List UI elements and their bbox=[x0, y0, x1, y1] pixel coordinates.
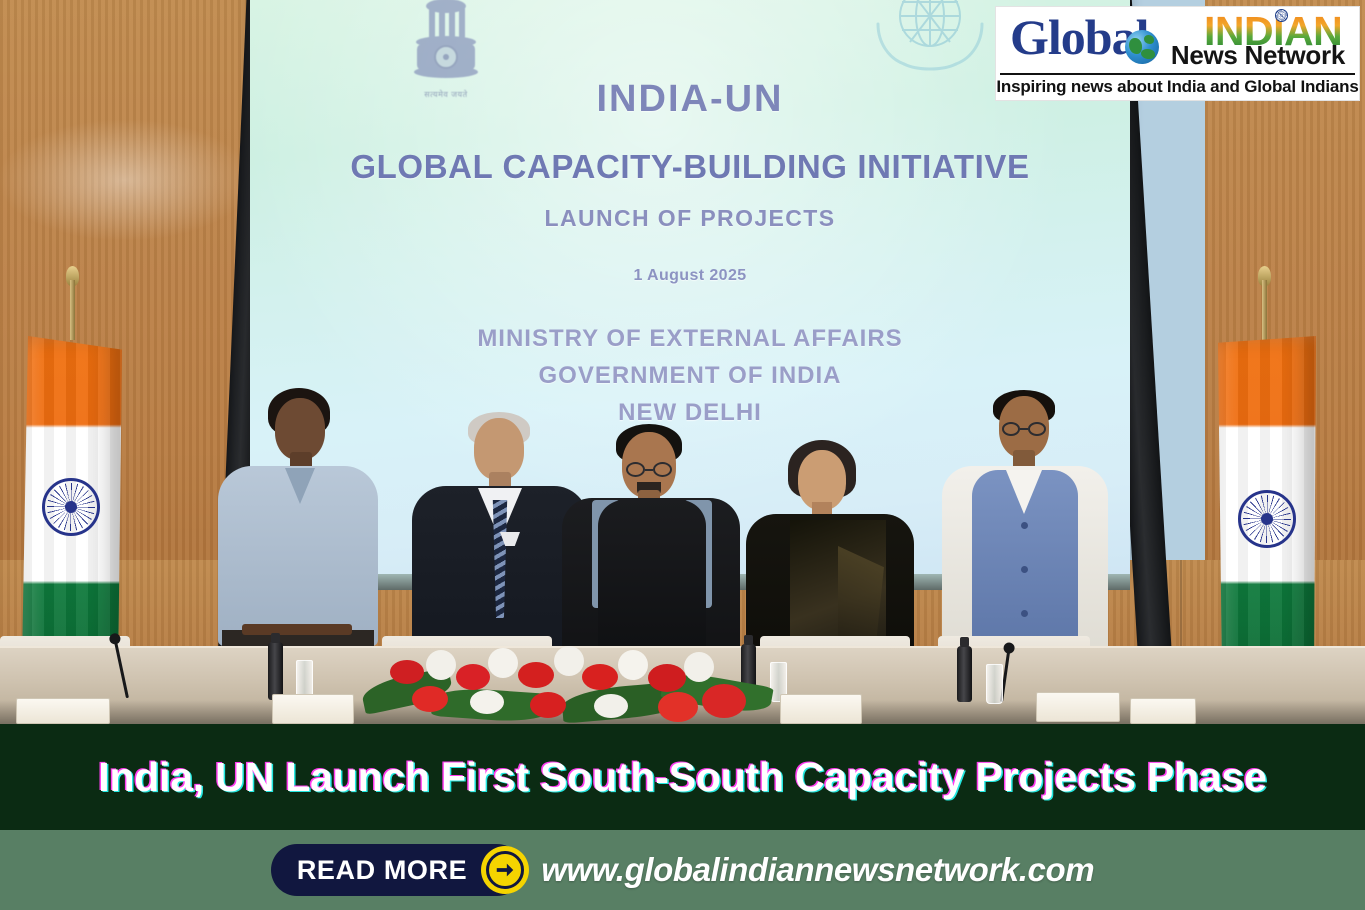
website-url[interactable]: www.globalindiannewsnetwork.com bbox=[541, 851, 1094, 889]
brand-divider bbox=[1000, 73, 1355, 75]
brand-word-news-network: News Network bbox=[1171, 40, 1345, 70]
footer-bar: READ MORE www.globalindiannewsnetwork.co… bbox=[0, 830, 1365, 910]
united-nations-emblem-icon bbox=[860, 0, 1000, 78]
water-glass bbox=[986, 664, 1003, 704]
ashoka-chakra-icon bbox=[42, 478, 100, 536]
arrow-right-circle-icon[interactable] bbox=[481, 846, 529, 894]
brand-logo-top: Global INDIAN News Network bbox=[1004, 10, 1351, 72]
slide-government: GOVERNMENT OF INDIA bbox=[250, 362, 1130, 390]
slide-date: 1 August 2025 bbox=[250, 267, 1130, 285]
slide-title-line2: GLOBAL CAPACITY-BUILDING INITIATIVE bbox=[250, 148, 1130, 186]
brand-logo[interactable]: Global INDIAN News Network Inspiring new… bbox=[995, 6, 1360, 101]
slide-title-line3: LAUNCH OF PROJECTS bbox=[250, 205, 1130, 232]
wall-sheen bbox=[0, 120, 250, 240]
name-placard bbox=[1036, 692, 1120, 722]
water-bottle bbox=[268, 642, 283, 700]
event-photograph: सत्यमेव जयते INDIA-UN GLOBAL bbox=[0, 0, 1365, 724]
name-placard bbox=[780, 694, 862, 724]
brand-tagline: Inspiring news about India and Global In… bbox=[996, 77, 1359, 97]
read-more-label: READ MORE bbox=[297, 855, 467, 886]
slide-ministry: MINISTRY OF EXTERNAL AFFAIRS bbox=[250, 325, 1130, 353]
headline-band: India, UN Launch First South-South Capac… bbox=[0, 724, 1365, 830]
flag-pole bbox=[70, 280, 75, 340]
news-graphic-card: सत्यमेव जयते INDIA-UN GLOBAL bbox=[0, 0, 1365, 910]
read-more-button[interactable]: READ MORE bbox=[271, 844, 523, 896]
water-bottle bbox=[957, 646, 972, 702]
name-placard bbox=[16, 698, 110, 724]
flag-pole bbox=[1262, 280, 1267, 340]
name-placard bbox=[272, 694, 354, 724]
flower-bouquet-icon bbox=[372, 620, 762, 724]
ashoka-chakra-icon bbox=[1275, 9, 1288, 22]
headline-text: India, UN Launch First South-South Capac… bbox=[98, 754, 1266, 801]
globe-icon bbox=[1125, 30, 1159, 64]
name-placard bbox=[1130, 698, 1196, 724]
ashoka-chakra-icon bbox=[1238, 490, 1296, 548]
